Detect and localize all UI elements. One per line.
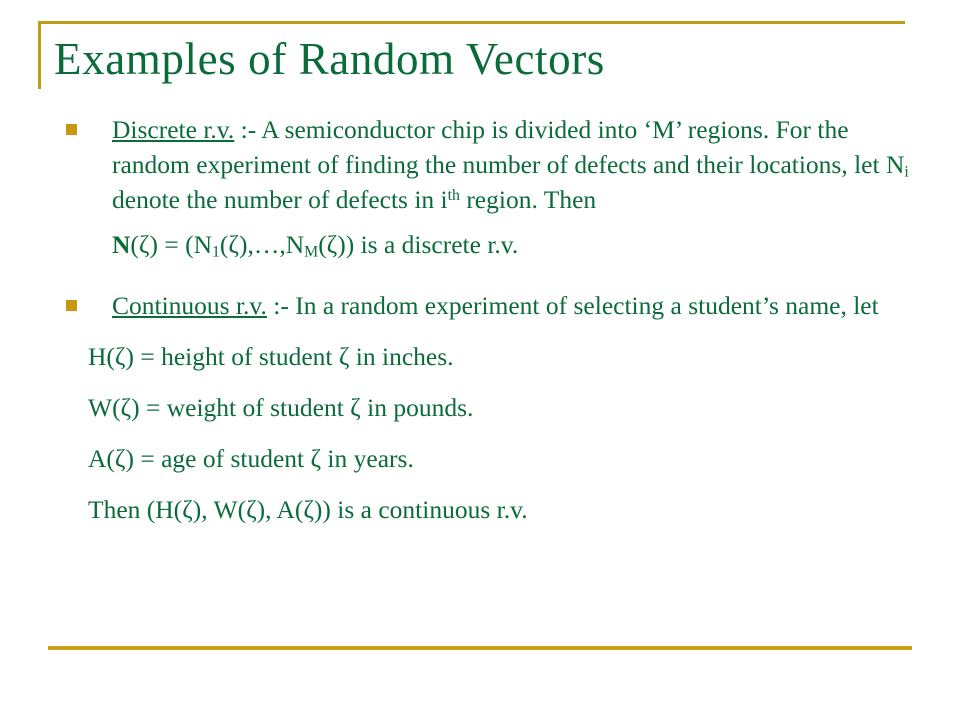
- equation-continuous-vector: Then (H(ζ), W(ζ), A(ζ)) is a continuous …: [0, 492, 960, 527]
- footer-rule: [48, 646, 912, 650]
- spacer: [0, 323, 960, 339]
- equation-height: H(ζ) = height of student ζ in inches.: [0, 339, 960, 374]
- discrete-superscript-th: th: [448, 187, 460, 204]
- bullet-text-discrete: Discrete r.v. :- A semiconductor chip is…: [112, 112, 914, 217]
- equation-subscript-1: 1: [212, 243, 220, 260]
- equation-age: A(ζ) = age of student ζ in years.: [0, 441, 960, 476]
- discrete-subscript-i: i: [904, 163, 908, 180]
- spacer: [0, 374, 960, 390]
- spacer: [0, 262, 960, 288]
- continuous-term-label: Continuous r.v.: [112, 291, 267, 320]
- discrete-body-part-b: denote the number of defects in i: [112, 185, 448, 214]
- discrete-term-label: Discrete r.v.: [112, 115, 234, 144]
- equation-part-1: (ζ) = (N: [130, 230, 212, 259]
- title-left-rule: [38, 21, 41, 89]
- equation-discrete-vector: N(ζ) = (N1(ζ),…,NM(ζ)) is a discrete r.v…: [0, 227, 960, 262]
- slide: Examples of Random Vectors Discrete r.v.…: [0, 0, 960, 720]
- page-title: Examples of Random Vectors: [54, 32, 605, 86]
- square-bullet-icon: [66, 300, 77, 311]
- square-bullet-icon: [66, 124, 77, 135]
- equation-part-2: (ζ),…,N: [220, 230, 304, 259]
- spacer: [0, 217, 960, 227]
- continuous-body-text: :- In a random experiment of selecting a…: [267, 291, 879, 320]
- bullet-item-discrete: Discrete r.v. :- A semiconductor chip is…: [0, 112, 960, 217]
- title-top-rule: [38, 21, 905, 24]
- discrete-body-part-c: region. Then: [460, 185, 596, 214]
- slide-body: Discrete r.v. :- A semiconductor chip is…: [0, 112, 960, 527]
- spacer: [0, 425, 960, 441]
- bullet-item-continuous: Continuous r.v. :- In a random experimen…: [0, 288, 960, 323]
- equation-weight: W(ζ) = weight of student ζ in pounds.: [0, 390, 960, 425]
- equation-part-3: (ζ)) is a discrete r.v.: [318, 230, 518, 259]
- spacer: [0, 476, 960, 492]
- equation-lead-bold-N: N: [112, 230, 130, 259]
- bullet-text-continuous: Continuous r.v. :- In a random experimen…: [112, 288, 914, 323]
- equation-subscript-M: M: [304, 243, 318, 260]
